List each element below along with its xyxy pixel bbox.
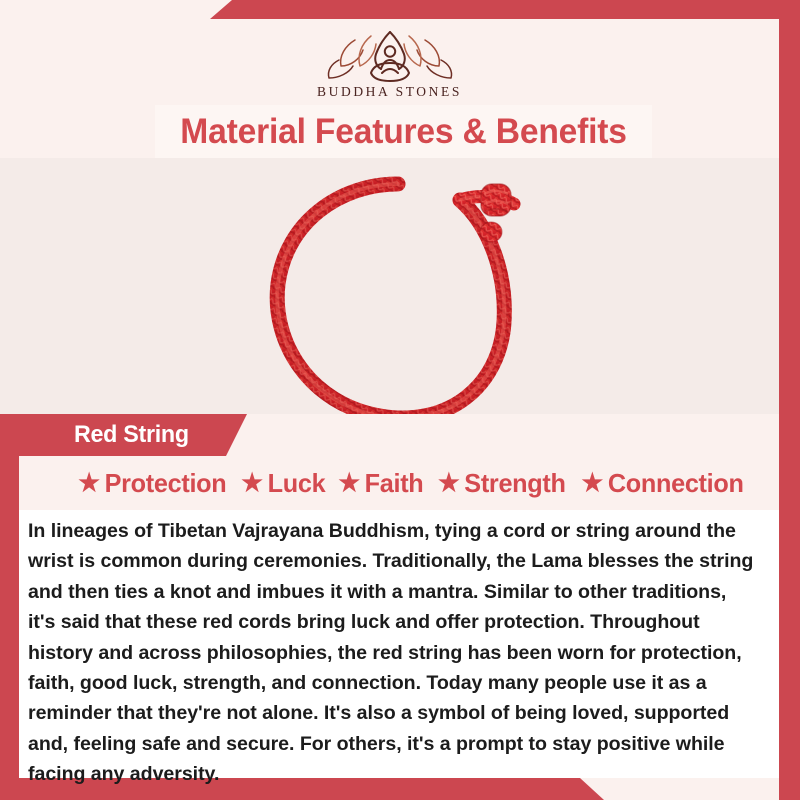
- description-text: In lineages of Tibetan Vajrayana Buddhis…: [28, 516, 757, 790]
- top-red-band: [0, 0, 800, 19]
- product-photo-area: [0, 158, 779, 414]
- page-title: Material Features & Benefits: [180, 112, 627, 152]
- benefit-label: Protection: [105, 468, 227, 499]
- product-name-banner: Red String: [19, 414, 247, 456]
- red-string-bracelet-image: [248, 160, 548, 414]
- product-infographic: BUDDHA STONES Material Features & Benefi…: [0, 0, 800, 800]
- title-band: Material Features & Benefits: [155, 105, 652, 158]
- right-red-band: [779, 0, 800, 800]
- benefit-item: ★ Faith: [339, 468, 424, 499]
- benefit-label: Strength: [464, 468, 565, 499]
- star-icon: ★: [78, 471, 99, 496]
- brand-header: BUDDHA STONES: [0, 19, 779, 105]
- star-icon: ★: [438, 471, 459, 496]
- description-block: In lineages of Tibetan Vajrayana Buddhis…: [19, 510, 779, 778]
- benefits-row: ★ Protection ★ Luck ★ Faith ★ Strength ★…: [19, 456, 779, 510]
- banner-background: [247, 414, 779, 456]
- benefit-label: Luck: [267, 468, 325, 499]
- brand-wordmark: BUDDHA STONES: [317, 84, 462, 100]
- benefit-item: ★ Luck: [241, 468, 325, 499]
- brand-logo: BUDDHA STONES: [315, 26, 465, 100]
- star-icon: ★: [581, 471, 602, 496]
- benefit-item: ★ Connection: [581, 468, 743, 499]
- benefit-label: Connection: [608, 468, 744, 499]
- benefit-item: ★ Protection: [78, 468, 226, 499]
- benefit-label: Faith: [365, 468, 424, 499]
- product-name: Red String: [22, 421, 189, 449]
- star-icon: ★: [241, 471, 262, 496]
- benefit-item: ★ Strength: [438, 468, 566, 499]
- left-red-band: [0, 412, 19, 800]
- bracelet-knot: [481, 184, 511, 216]
- star-icon: ★: [339, 471, 360, 496]
- lotus-meditation-figure-icon: [315, 26, 465, 86]
